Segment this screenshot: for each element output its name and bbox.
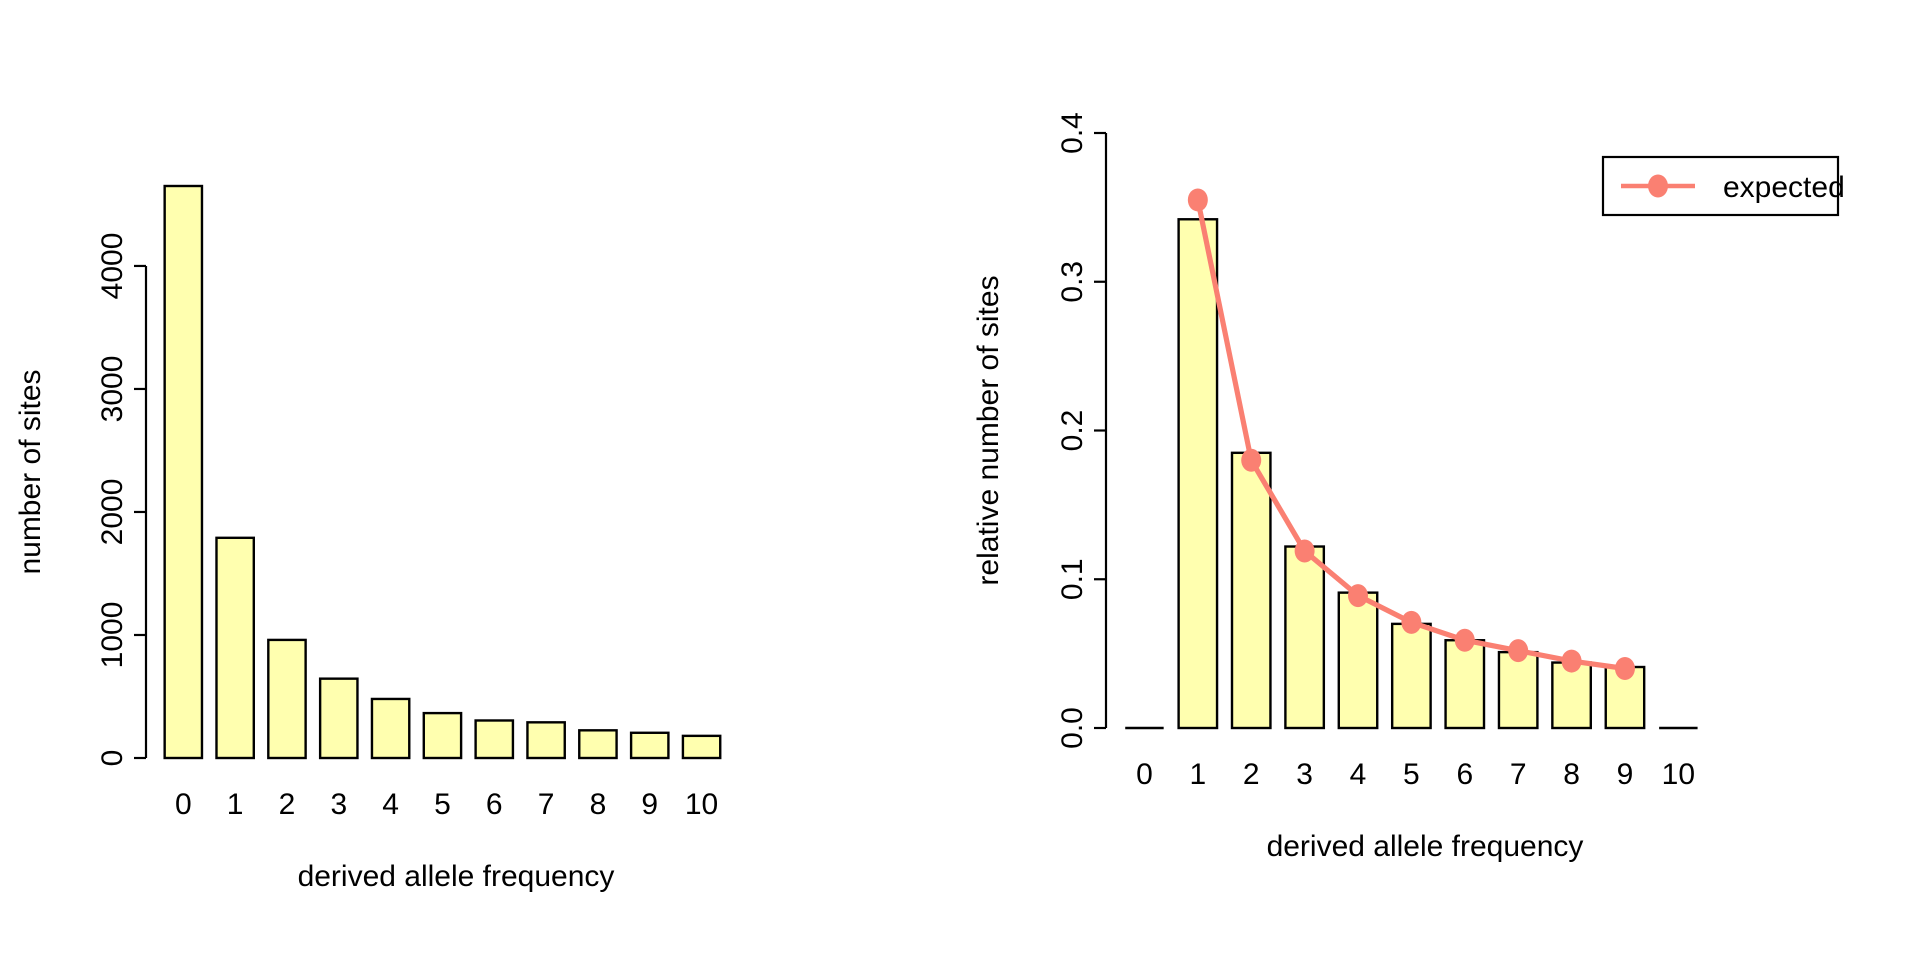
expected-point-4	[1401, 611, 1421, 634]
y-tick-label-4: 0.4	[1056, 112, 1089, 154]
expected-point-3	[1348, 584, 1368, 607]
y-tick-label-1: 0.1	[1056, 558, 1089, 600]
x-tick-label-7: 7	[538, 788, 555, 821]
expected-point-7	[1562, 650, 1582, 673]
legend-marker-0	[1648, 175, 1668, 198]
bar-2	[1232, 453, 1270, 728]
x-tick-label-3: 3	[330, 788, 347, 821]
y-axis-title: relative number of sites	[972, 275, 1005, 585]
bar-6	[1446, 640, 1484, 728]
x-tick-label-9: 9	[1617, 758, 1634, 791]
x-tick-label-6: 6	[1456, 758, 1473, 791]
x-tick-label-2: 2	[1243, 758, 1260, 791]
y-tick-label-3: 3000	[96, 356, 129, 423]
y-tick-label-3: 0.3	[1056, 261, 1089, 303]
bar-8	[579, 730, 616, 758]
x-tick-label-8: 8	[590, 788, 607, 821]
bar-1	[216, 538, 253, 758]
y-tick-label-0: 0	[96, 750, 129, 767]
x-tick-label-5: 5	[434, 788, 451, 821]
x-tick-label-1: 1	[1189, 758, 1206, 791]
bar-3	[320, 679, 357, 758]
x-tick-label-5: 5	[1403, 758, 1420, 791]
bar-9	[631, 733, 668, 758]
y-tick-label-2: 2000	[96, 479, 129, 546]
bar-0	[165, 186, 202, 758]
x-tick-label-8: 8	[1563, 758, 1580, 791]
panel-relative: 0.00.10.20.30.4012345678910derived allel…	[960, 0, 1920, 960]
x-tick-label-3: 3	[1296, 758, 1313, 791]
bar-4	[372, 699, 409, 758]
y-tick-label-1: 1000	[96, 602, 129, 669]
x-tick-label-10: 10	[685, 788, 718, 821]
expected-point-8	[1615, 657, 1635, 680]
expected-point-1	[1241, 449, 1261, 472]
x-tick-label-10: 10	[1662, 758, 1695, 791]
bar-10	[683, 736, 720, 758]
bar-7	[527, 722, 564, 758]
x-tick-label-9: 9	[641, 788, 658, 821]
bar-1	[1179, 219, 1217, 728]
x-tick-label-7: 7	[1510, 758, 1527, 791]
expected-point-6	[1508, 639, 1528, 662]
relative-plot: 0.00.10.20.30.4012345678910derived allel…	[960, 0, 1920, 960]
bar-7	[1499, 652, 1537, 728]
x-tick-label-4: 4	[382, 788, 399, 821]
y-axis-title: number of sites	[14, 369, 47, 574]
bar-4	[1339, 593, 1377, 728]
expected-point-5	[1455, 629, 1475, 652]
x-tick-label-1: 1	[227, 788, 244, 821]
x-tick-label-2: 2	[279, 788, 296, 821]
x-tick-label-0: 0	[175, 788, 192, 821]
counts-plot: 01000200030004000012345678910derived all…	[0, 0, 960, 960]
x-axis-title: derived allele frequency	[298, 860, 615, 893]
x-tick-label-4: 4	[1350, 758, 1367, 791]
figure-canvas: 01000200030004000012345678910derived all…	[0, 0, 1920, 960]
x-tick-label-0: 0	[1136, 758, 1153, 791]
y-tick-label-0: 0.0	[1056, 707, 1089, 749]
panel-counts: 01000200030004000012345678910derived all…	[0, 0, 960, 960]
y-tick-label-2: 0.2	[1056, 410, 1089, 452]
bar-3	[1285, 547, 1323, 728]
bar-5	[1392, 624, 1430, 728]
bar-6	[476, 720, 513, 758]
bar-2	[268, 640, 305, 758]
bar-5	[424, 713, 461, 758]
x-tick-label-6: 6	[486, 788, 503, 821]
y-tick-label-4: 4000	[96, 233, 129, 300]
x-axis-title: derived allele frequency	[1267, 830, 1584, 863]
legend-label-0: expected	[1723, 171, 1845, 204]
expected-point-0	[1188, 188, 1208, 211]
expected-point-2	[1295, 539, 1315, 562]
